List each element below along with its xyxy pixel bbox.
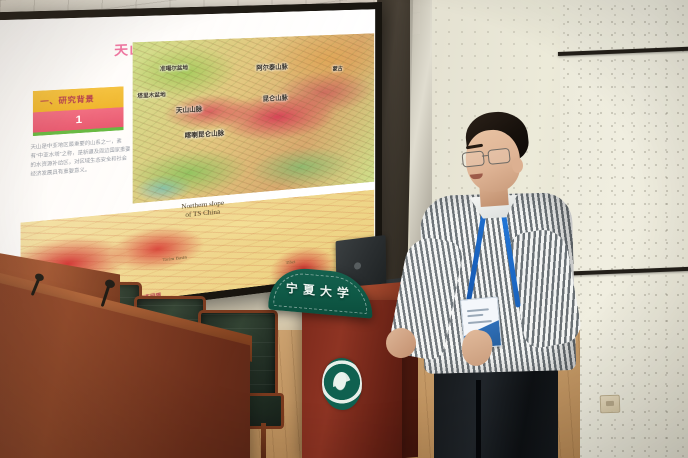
- map-label-mongolia: 蒙古: [333, 65, 343, 73]
- map-label-tianshan: 天山山脉: [176, 104, 203, 115]
- map-label-altai: 阿尔泰山脉: [256, 61, 287, 72]
- presenter-trousers: [434, 364, 558, 458]
- badge-line: [468, 320, 492, 324]
- presenter-trouser-seam: [476, 380, 481, 458]
- slide-section-badge-label: 一、研究背景: [33, 93, 94, 108]
- laptop-logo-icon: [354, 262, 361, 270]
- conference-room-photo: 天山—中亚水塔 一、研究背景 1 天山是中亚地区最重要的山系之一，素有“中亚水塔…: [0, 0, 688, 458]
- wall-outlet-icon: [600, 395, 621, 414]
- tianshan-relief-map: 天山山脉 昆仑山脉 阿尔泰山脉 喀喇昆仑山脉 准噶尔盆地 塔里木盆地 蒙古: [133, 33, 375, 203]
- map-label-tarim: 塔里木盆地: [137, 91, 165, 100]
- badge-line: [467, 314, 483, 317]
- map-label-junggar: 准噶尔盆地: [160, 64, 188, 73]
- badge-line: [467, 308, 489, 312]
- presenter: [404, 112, 579, 458]
- podium-sign-label: 宁夏大学: [268, 277, 372, 303]
- lens-right: [487, 148, 510, 165]
- lens-left: [461, 150, 484, 167]
- relief-shading: [133, 33, 375, 203]
- chair-leg: [261, 423, 266, 458]
- slide-body-text: 天山是中亚地区最重要的山系之一，素有“中亚水塔”之称，是新疆及周边国家重要的水资…: [30, 136, 130, 179]
- map-label-kunlun: 昆仑山脉: [263, 92, 288, 103]
